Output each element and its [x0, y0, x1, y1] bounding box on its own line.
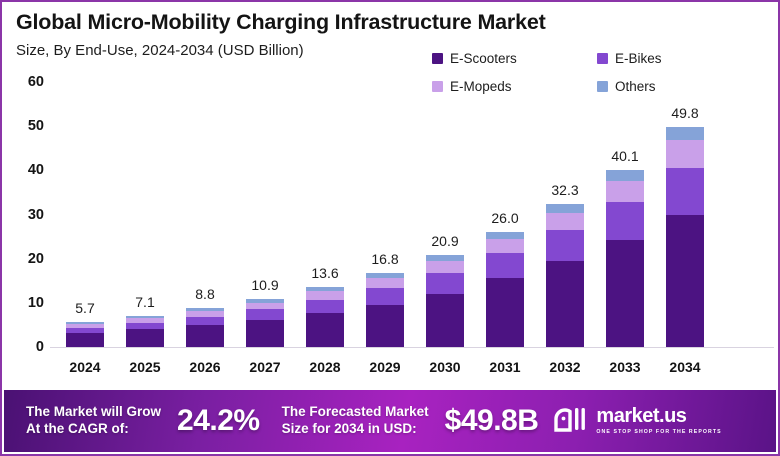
bar-segment-e-scooters[interactable]: [186, 325, 224, 347]
bar-value-label: 5.7: [55, 300, 115, 316]
bar-value-label: 8.8: [175, 286, 235, 302]
cagr-caption: The Market will Grow At the CAGR of:: [26, 404, 161, 438]
cagr-caption-line2: At the CAGR of:: [26, 421, 161, 438]
y-axis-tick: 30: [28, 207, 44, 223]
bar-segment-e-scooters[interactable]: [486, 278, 524, 347]
bar-value-label: 49.8: [655, 105, 715, 121]
bar-segment-e-bikes[interactable]: [546, 230, 584, 261]
legend-label: E-Scooters: [450, 51, 517, 66]
bar-segment-e-scooters[interactable]: [306, 313, 344, 347]
y-axis-tick: 60: [28, 74, 44, 90]
bar-segment-e-bikes[interactable]: [666, 168, 704, 216]
y-axis-tick: 10: [28, 295, 44, 311]
bar-segment-e-mopeds[interactable]: [666, 140, 704, 167]
stacked-bar[interactable]: [306, 287, 344, 347]
bar-segment-e-bikes[interactable]: [366, 288, 404, 304]
bar-segment-e-mopeds[interactable]: [426, 261, 464, 273]
x-axis-tick: 2027: [235, 359, 295, 375]
x-axis-tick: 2030: [415, 359, 475, 375]
page-subtitle: Size, By End-Use, 2024-2034 (USD Billion…: [16, 42, 304, 59]
stacked-bar[interactable]: [426, 255, 464, 347]
bar-segment-e-bikes[interactable]: [486, 253, 524, 278]
market-us-logo: market.us ONE STOP SHOP FOR THE REPORTS: [554, 406, 721, 437]
stacked-bar[interactable]: [66, 322, 104, 347]
summary-banner: The Market will Grow At the CAGR of: 24.…: [4, 390, 776, 452]
stacked-bar[interactable]: [546, 204, 584, 347]
legend-swatch-icon: [432, 53, 443, 64]
x-axis-tick: 2033: [595, 359, 655, 375]
x-axis-tick: 2032: [535, 359, 595, 375]
bar-value-label: 10.9: [235, 277, 295, 293]
x-axis-tick: 2031: [475, 359, 535, 375]
stacked-bar[interactable]: [666, 127, 704, 347]
stacked-bar[interactable]: [366, 273, 404, 347]
logo-name: market.us: [596, 405, 686, 427]
bar-segment-e-scooters[interactable]: [546, 261, 584, 347]
bar-segment-e-mopeds[interactable]: [606, 181, 644, 202]
bar-value-label: 26.0: [475, 210, 535, 226]
bar-segment-e-bikes[interactable]: [426, 273, 464, 293]
x-axis: 2024202520262027202820292030203120322033…: [54, 359, 772, 385]
bar-segment-e-scooters[interactable]: [606, 240, 644, 347]
bar-segment-others[interactable]: [546, 204, 584, 212]
bar-segment-e-mopeds[interactable]: [546, 213, 584, 231]
forecast-caption-line2: Size for 2034 in USD:: [282, 421, 429, 438]
stacked-bar[interactable]: [486, 232, 524, 347]
plot-area: 0102030405060 5.77.18.810.913.616.820.92…: [2, 82, 780, 357]
stacked-bar[interactable]: [126, 316, 164, 347]
forecast-value: $49.8B: [445, 404, 539, 438]
x-axis-tick: 2029: [355, 359, 415, 375]
stacked-bar[interactable]: [246, 299, 284, 347]
bar-segment-e-mopeds[interactable]: [366, 278, 404, 288]
bar-segment-e-scooters[interactable]: [666, 215, 704, 347]
y-axis: 0102030405060: [2, 82, 50, 357]
x-axis-tick: 2026: [175, 359, 235, 375]
bar-segment-e-bikes[interactable]: [246, 309, 284, 320]
bar-segment-e-bikes[interactable]: [306, 300, 344, 313]
bar-segment-others[interactable]: [666, 127, 704, 140]
x-axis-tick: 2028: [295, 359, 355, 375]
bar-segment-e-scooters[interactable]: [246, 320, 284, 347]
bar-series-container: 5.77.18.810.913.616.820.926.032.340.149.…: [54, 82, 776, 357]
bar-segment-e-scooters[interactable]: [366, 305, 404, 347]
legend-item-e-scooters: E-Scooters: [432, 44, 597, 72]
bar-value-label: 40.1: [595, 148, 655, 164]
x-axis-tick: 2034: [655, 359, 715, 375]
market-us-wordmark: market.us ONE STOP SHOP FOR THE REPORTS: [596, 406, 721, 435]
legend-item-e-bikes: E-Bikes: [597, 44, 762, 72]
bar-value-label: 20.9: [415, 233, 475, 249]
bar-segment-e-scooters[interactable]: [66, 333, 104, 347]
x-axis-tick: 2025: [115, 359, 175, 375]
y-axis-tick: 50: [28, 118, 44, 134]
bar-value-label: 7.1: [115, 294, 175, 310]
bar-segment-e-bikes[interactable]: [126, 323, 164, 330]
y-axis-tick: 40: [28, 162, 44, 178]
market-us-mark-icon: [554, 406, 588, 437]
bar-segment-e-mopeds[interactable]: [486, 239, 524, 254]
forecast-caption: The Forecasted Market Size for 2034 in U…: [282, 404, 429, 438]
y-axis-tick: 20: [28, 251, 44, 267]
forecast-caption-line1: The Forecasted Market: [282, 404, 429, 421]
y-axis-tick: 0: [36, 339, 44, 355]
logo-tagline: ONE STOP SHOP FOR THE REPORTS: [596, 430, 721, 435]
cagr-caption-line1: The Market will Grow: [26, 404, 161, 421]
bar-segment-e-bikes[interactable]: [186, 317, 224, 325]
page-title: Global Micro-Mobility Charging Infrastru…: [16, 10, 546, 35]
bar-segment-others[interactable]: [486, 232, 524, 239]
legend-swatch-icon: [597, 53, 608, 64]
bar-segment-e-scooters[interactable]: [126, 329, 164, 347]
cagr-value: 24.2%: [177, 404, 260, 438]
stacked-bar[interactable]: [186, 308, 224, 347]
x-axis-tick: 2024: [55, 359, 115, 375]
bar-segment-e-scooters[interactable]: [426, 294, 464, 347]
bar-segment-e-mopeds[interactable]: [306, 291, 344, 299]
bar-value-label: 13.6: [295, 265, 355, 281]
bar-value-label: 32.3: [535, 182, 595, 198]
bar-value-label: 16.8: [355, 251, 415, 267]
legend-label: E-Bikes: [615, 51, 662, 66]
bar-segment-e-bikes[interactable]: [606, 202, 644, 240]
bar-segment-others[interactable]: [606, 170, 644, 181]
chart-infographic: Global Micro-Mobility Charging Infrastru…: [0, 0, 780, 456]
stacked-bar[interactable]: [606, 170, 644, 347]
bar-segment-e-mopeds[interactable]: [246, 303, 284, 310]
